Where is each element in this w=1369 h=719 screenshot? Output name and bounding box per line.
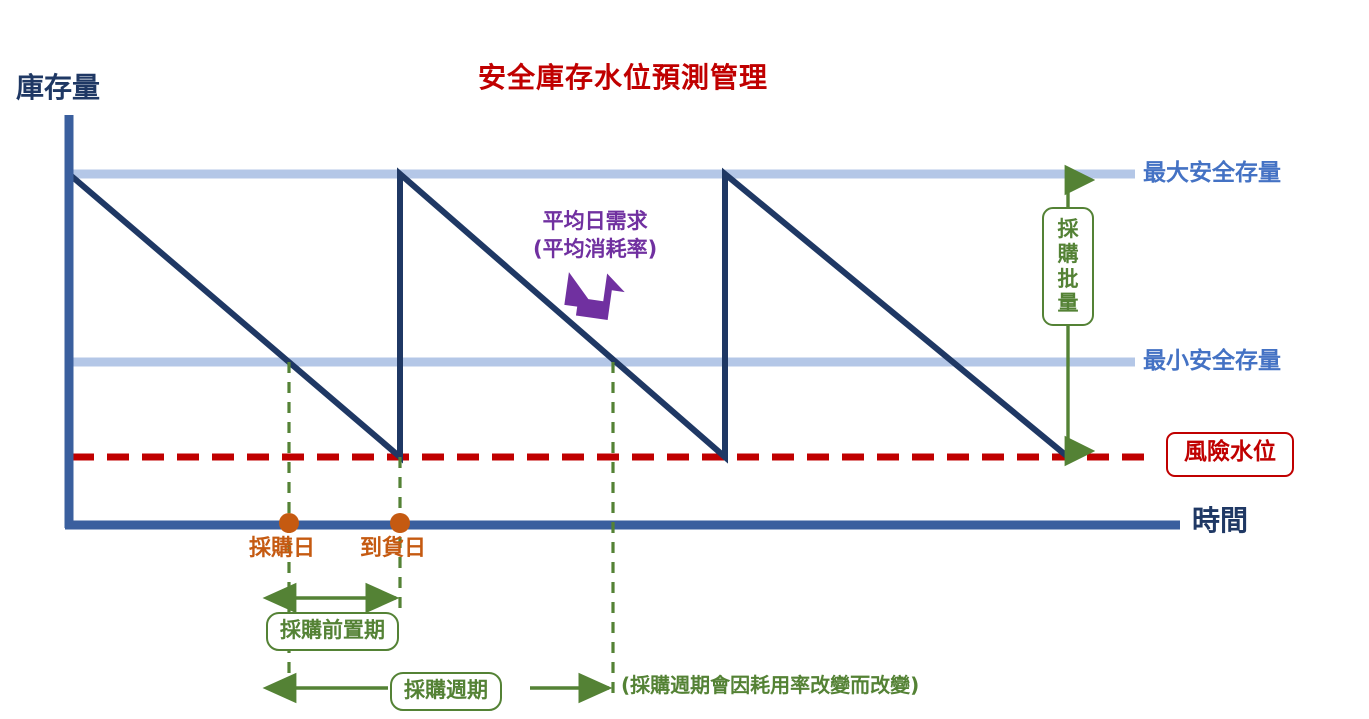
- max-safety-stock-label: 最大安全存量: [1143, 160, 1281, 186]
- risk-level-label: 風險水位: [1166, 432, 1294, 477]
- purchase-cycle-note: (採購週期會因耗用率改變而改變): [621, 674, 919, 697]
- min-safety-stock-label: 最小安全存量: [1143, 348, 1281, 374]
- consumption-arrow-icon: [563, 268, 627, 322]
- arrival-date-marker: [390, 513, 410, 533]
- batch-size-label: 採購批量: [1042, 207, 1094, 326]
- average-demand-line1: 平均日需求: [533, 207, 657, 235]
- page-title: 安全庫存水位預測管理: [478, 62, 768, 94]
- lead-time-label: 採購前置期: [266, 612, 399, 651]
- purchase-cycle-label: 採購週期: [390, 672, 502, 711]
- order-date-label: 採購日: [249, 536, 315, 561]
- order-date-marker: [279, 513, 299, 533]
- x-axis-label: 時間: [1192, 505, 1248, 537]
- average-demand-line2: (平均消耗率): [533, 235, 657, 263]
- arrival-date-label: 到貨日: [360, 536, 426, 561]
- average-demand-annotation: 平均日需求 (平均消耗率): [533, 207, 657, 264]
- y-axis-label: 庫存量: [16, 72, 100, 104]
